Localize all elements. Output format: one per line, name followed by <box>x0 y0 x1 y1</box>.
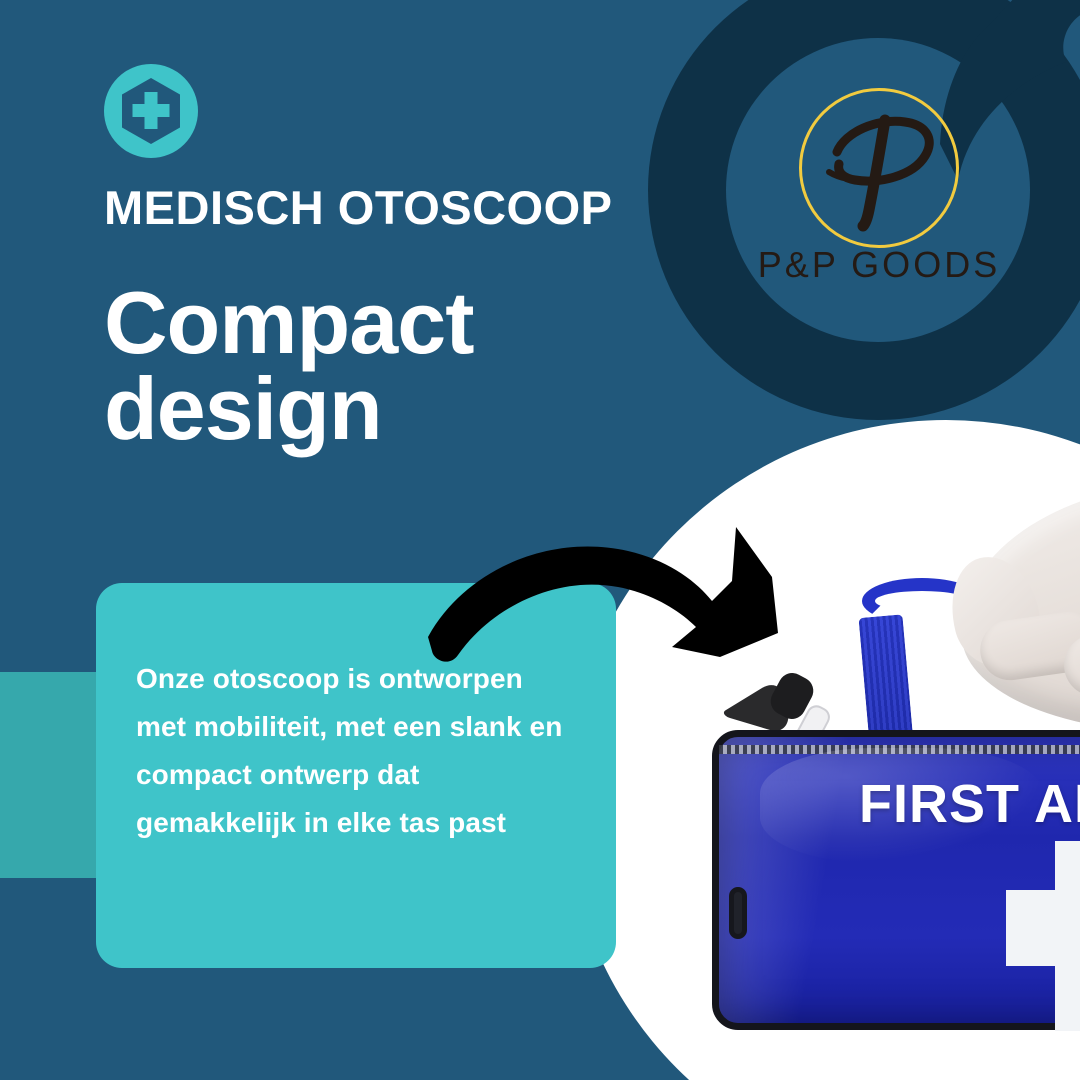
logo-wordmark: P&P GOODS <box>758 244 1000 286</box>
page-eyebrow: MEDISCH OTOSCOOP <box>104 180 613 235</box>
bag-strap-left <box>859 614 914 745</box>
bag-zipper-pull <box>729 887 747 939</box>
curved-arrow-icon <box>420 515 790 685</box>
brand-logo: P&P GOODS <box>740 88 1018 318</box>
bag-label-text: FIRST AID KIT <box>859 773 1080 835</box>
bag-cross-horizontal <box>1006 890 1080 966</box>
logo-mark <box>799 88 959 248</box>
medical-cross-hexagon-icon <box>104 64 198 158</box>
poster-canvas: P&P GOODS MEDISCH OTOSCOOP Compact desig… <box>0 0 1080 1080</box>
headline-line-2: design <box>104 366 474 452</box>
logo-script-p-icon <box>799 88 959 248</box>
first-aid-bag: FIRST AID KIT <box>712 730 1080 1030</box>
headline-line-1: Compact <box>104 280 474 366</box>
page-title: Compact design <box>104 280 474 452</box>
